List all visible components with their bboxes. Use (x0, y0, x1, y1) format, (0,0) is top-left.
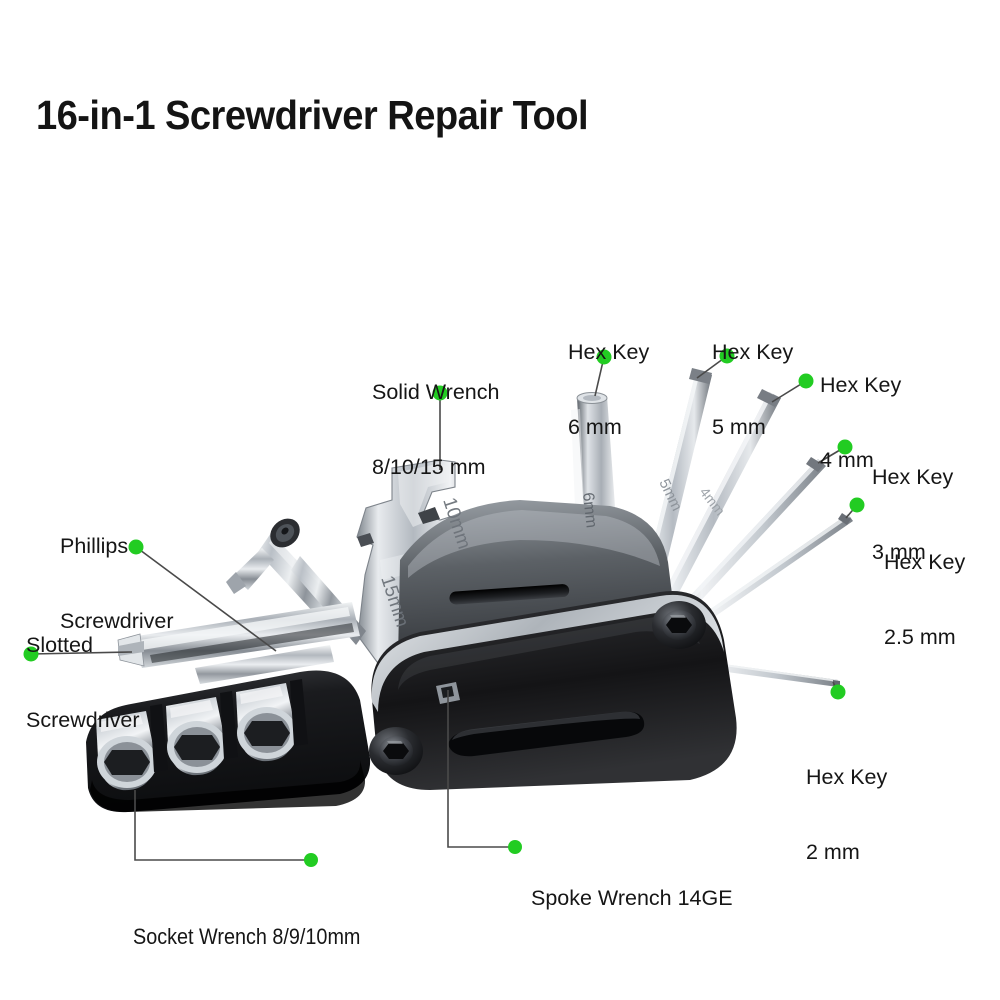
spoke-wrench (436, 682, 460, 704)
callout-line: Spoke Wrench 14GE (531, 886, 733, 911)
product-diagram: 16-in-1 Screwdriver Repair Tool (0, 0, 1000, 1000)
callout-line: Hex Key (806, 765, 887, 790)
engraving-15mm: 15mm (376, 573, 412, 630)
page-title: 16-in-1 Screwdriver Repair Tool (36, 92, 588, 139)
callout-line: 2.5 mm (884, 625, 965, 650)
callout-line: 8/10/15 mm (372, 455, 499, 480)
pivot-screw-left (369, 727, 423, 775)
engraving-5mm: 5mm (655, 476, 685, 513)
callout-line: Hex Key (820, 373, 901, 398)
callout-line: Hex Key (568, 340, 649, 365)
leader-spoke-wrench (448, 690, 515, 847)
callout-line: Hex Key (884, 550, 965, 575)
callout-hex-key-2mm: Hex Key 2 mm (806, 715, 887, 915)
callout-line: Socket Wrench 8/9/10mm (133, 924, 360, 949)
phillips-screwdriver-shaft (258, 513, 366, 645)
pivot-screw-right (652, 601, 706, 649)
tool-inner-plate (398, 500, 678, 700)
phillips-tip (226, 548, 274, 594)
callout-line: Hex Key (712, 340, 793, 365)
callout-spoke-wrench: Spoke Wrench 14GE (531, 836, 733, 961)
hex-key-pivot-cluster (598, 619, 700, 678)
engraving-6mm: 6mm (579, 492, 600, 529)
callout-line: Solid Wrench (372, 380, 499, 405)
callout-hex-key-6mm: Hex Key 6 mm (568, 290, 649, 490)
dot-hex-key-2mm[interactable] (831, 685, 846, 700)
callout-solid-wrench: Solid Wrench 8/10/15 mm (372, 330, 499, 530)
callout-hex-key-5mm: Hex Key 5 mm (712, 290, 793, 490)
leader-socket-wrench (135, 790, 311, 860)
callout-line: 2 mm (806, 840, 887, 865)
hex-key-2.5mm-shaft (654, 513, 853, 656)
callout-line: 5 mm (712, 415, 793, 440)
callout-line: Hex Key (872, 465, 953, 490)
callout-socket-wrench: Socket Wrench 8/9/10mm (133, 874, 360, 999)
callout-line: Slotted (26, 633, 140, 658)
dot-hex-key-4mm[interactable] (799, 374, 814, 389)
dot-spoke-wrench[interactable] (508, 840, 522, 854)
callout-slotted-screwdriver: Slotted Screwdriver (26, 583, 140, 783)
callout-line: Screwdriver (26, 708, 140, 733)
dot-socket-wrench[interactable] (304, 853, 318, 867)
tool-handle-body (369, 591, 737, 790)
socket-9mm (166, 697, 227, 775)
hex-key-2mm-shaft (660, 655, 840, 687)
socket-10mm (236, 683, 297, 761)
callout-hex-key-2.5mm: Hex Key 2.5 mm (884, 500, 965, 700)
auxiliary-bit (195, 645, 334, 684)
callout-line: Phillips (60, 534, 174, 559)
callout-line: 6 mm (568, 415, 649, 440)
